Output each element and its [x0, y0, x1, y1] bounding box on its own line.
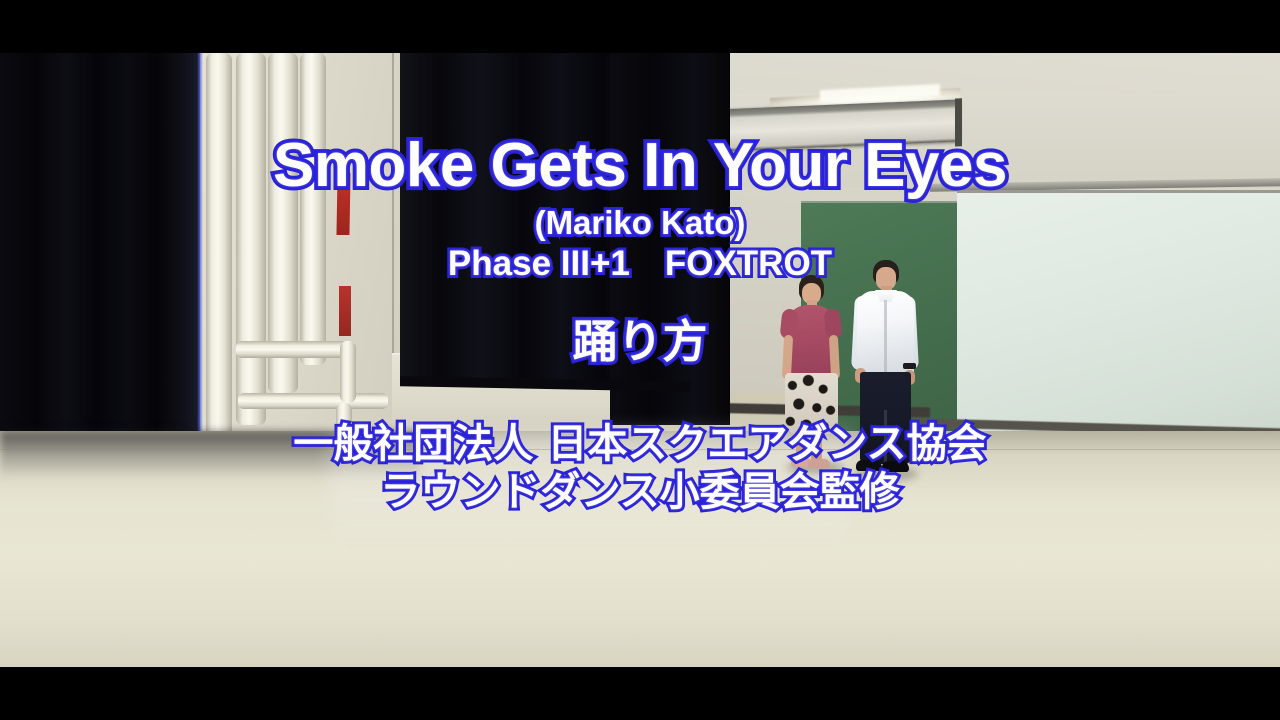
dancer-woman — [780, 275, 842, 475]
floor-sheen — [330, 433, 850, 553]
man-shoe-left — [856, 460, 882, 471]
fire-extinguisher-sign-upper — [336, 173, 350, 235]
woman-floral-skirt — [785, 373, 838, 435]
wall-pipe-horizontal-1 — [236, 341, 348, 358]
wall-pipe-1 — [206, 53, 232, 451]
wall-pipe-4 — [300, 53, 326, 365]
man-wristwatch — [903, 363, 916, 369]
floor-seam — [0, 449, 1280, 450]
panel-seam-2 — [392, 53, 394, 383]
woman-leg-right — [811, 431, 822, 461]
wall-pipe-5 — [340, 341, 356, 403]
video-frame[interactable]: Smoke Gets In Your Eyes (Mariko Kato) Ph… — [0, 53, 1280, 667]
woman-shoe-right — [808, 459, 830, 468]
fire-extinguisher-sign-lower — [339, 286, 351, 336]
video-player-stage: Smoke Gets In Your Eyes (Mariko Kato) Ph… — [0, 0, 1280, 720]
whiteboard — [957, 190, 1280, 445]
letterbox-bar-top — [0, 0, 1280, 53]
letterbox-bar-bottom — [0, 667, 1280, 720]
dancer-man — [851, 260, 919, 478]
man-shirt-placket — [884, 300, 887, 376]
stage-curtain-right — [610, 53, 730, 425]
man-trouser-seam — [884, 410, 887, 464]
woman-leg-left — [796, 431, 807, 461]
wall-pipe-horizontal-2 — [238, 393, 388, 409]
man-shoe-right — [882, 461, 909, 472]
wall-pipe-2 — [236, 53, 266, 425]
